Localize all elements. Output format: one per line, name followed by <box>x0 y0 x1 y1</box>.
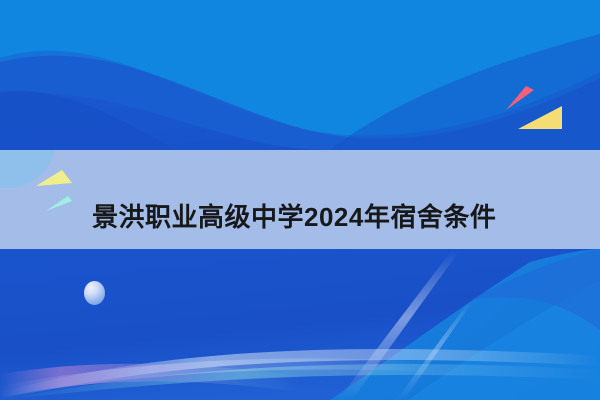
banner-root: 景洪职业高级中学2024年宿舍条件 <box>0 0 600 400</box>
gold-triangle-icon <box>518 106 562 130</box>
cyan-triangle-left-icon <box>46 196 72 212</box>
page-title: 景洪职业高级中学2024年宿舍条件 <box>92 167 562 266</box>
bubble-circle-decoration <box>84 281 105 305</box>
yellow-triangle-left-icon <box>36 170 72 188</box>
